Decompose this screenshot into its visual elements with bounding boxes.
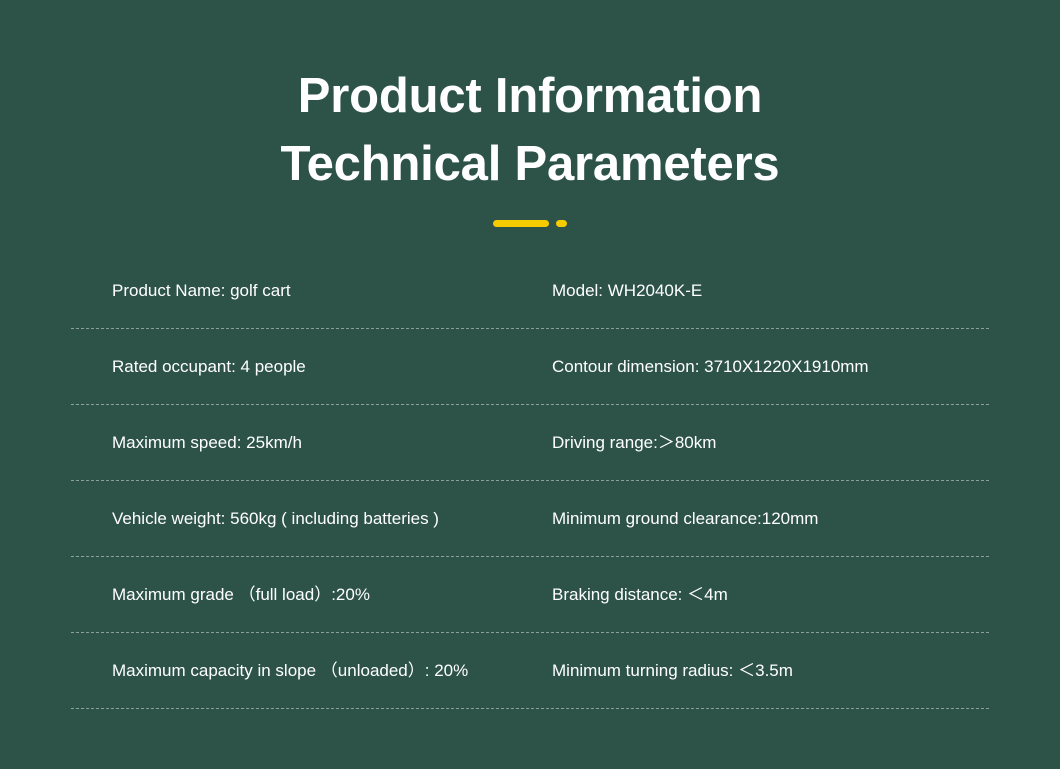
table-row: Maximum speed: 25km/h Driving range:＞80k…	[71, 405, 989, 481]
spec-left-1: Rated occupant: 4 people	[71, 355, 552, 379]
spec-right-1: Contour dimension: 3710X1220X1910mm	[552, 355, 869, 379]
spec-right-4: Braking distance: ＜4m	[552, 583, 728, 607]
spec-right-5: Minimum turning radius: ＜3.5m	[552, 659, 793, 683]
table-row: Maximum capacity in slope （unloaded）: 20…	[71, 633, 989, 709]
table-row: Vehicle weight: 560kg ( including batter…	[71, 481, 989, 557]
page-title-line-1: Product Information	[0, 62, 1060, 130]
page-title-line-2: Technical Parameters	[0, 130, 1060, 198]
title-accent-divider	[0, 218, 1060, 228]
specifications-table: Product Name: golf cart Model: WH2040K-E…	[0, 254, 1060, 709]
product-info-panel: Product Information Technical Parameters…	[0, 0, 1060, 769]
accent-dash-icon	[493, 220, 549, 227]
table-row: Rated occupant: 4 people Contour dimensi…	[71, 329, 989, 405]
table-row: Maximum grade （full load）:20% Braking di…	[71, 557, 989, 633]
spec-right-0: Model: WH2040K-E	[552, 279, 702, 303]
page-title: Product Information Technical Parameters	[0, 0, 1060, 198]
spec-left-3: Vehicle weight: 560kg ( including batter…	[71, 507, 552, 531]
spec-left-4: Maximum grade （full load）:20%	[71, 583, 552, 607]
spec-left-0: Product Name: golf cart	[71, 279, 552, 303]
accent-dot-icon	[556, 220, 567, 227]
spec-left-5: Maximum capacity in slope （unloaded）: 20…	[71, 659, 552, 683]
spec-right-2: Driving range:＞80km	[552, 431, 716, 455]
spec-right-3: Minimum ground clearance:120mm	[552, 507, 818, 531]
table-row: Product Name: golf cart Model: WH2040K-E	[71, 254, 989, 329]
spec-left-2: Maximum speed: 25km/h	[71, 431, 552, 455]
